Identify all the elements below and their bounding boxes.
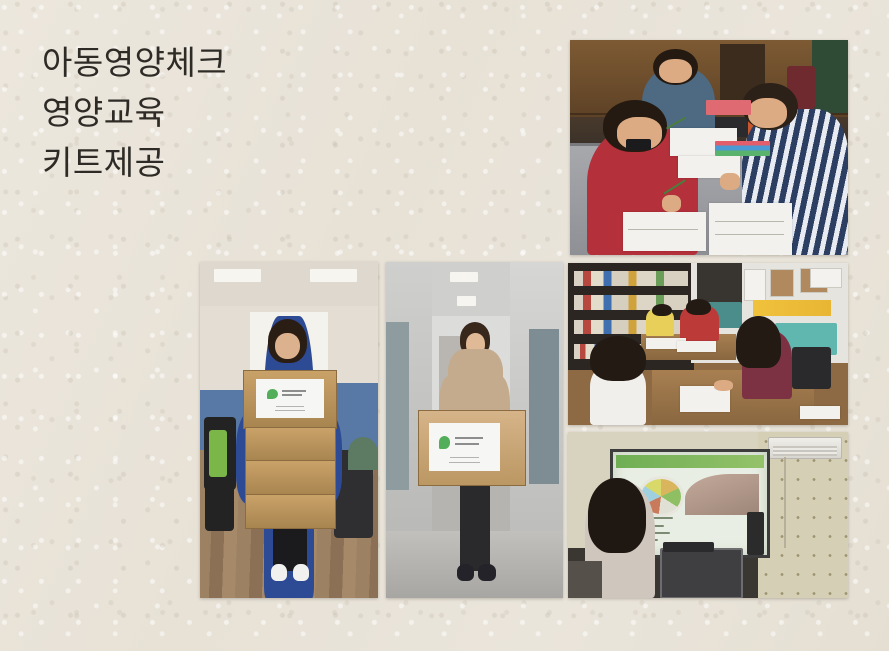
photo-kit-boxes-office (200, 262, 378, 598)
worksheet-paper-left (623, 212, 706, 251)
ceiling-light-left (214, 269, 260, 282)
speaker (747, 512, 764, 555)
office-chair-base (205, 484, 233, 531)
kit-box-2 (245, 427, 336, 463)
child-maroon-shirt-hair (736, 316, 781, 368)
photo-nutrition-lecture-projector-content (568, 432, 848, 598)
logo-text-line-2 (282, 394, 303, 396)
label-subtext-line-2 (449, 462, 480, 463)
shoe-left (457, 564, 475, 581)
food-fan-diagram (685, 474, 759, 515)
corridor-ceiling-light-1 (450, 272, 478, 282)
air-conditioner-vent (773, 446, 837, 456)
kit-box-label (429, 423, 499, 472)
desk-corner (568, 561, 602, 598)
logo-text-line-2 (455, 443, 479, 445)
kit-box-label (256, 379, 324, 419)
photo-kids-nutrition-check-content (570, 40, 848, 255)
logo-text-line-1 (455, 437, 483, 439)
hand-writing-right (720, 173, 739, 190)
shoe-left (271, 564, 287, 581)
projector-device (663, 542, 713, 552)
power-cable (784, 457, 786, 548)
book-row-1 (574, 271, 689, 286)
worksheet-line-2 (715, 221, 785, 222)
office-chair-black (792, 347, 831, 389)
book-stack (715, 141, 771, 156)
photo-kit-box-corridor (386, 262, 563, 598)
logo-text-line-1 (282, 390, 307, 392)
eyeglasses (626, 139, 651, 150)
shoe-right (293, 564, 309, 581)
podium-equipment (660, 548, 742, 598)
kit-box-top (243, 370, 338, 429)
kit-box-3 (245, 460, 336, 496)
worksheet-line-1 (628, 229, 698, 230)
child-white-shirt-hair (590, 336, 646, 381)
page-title: 아동영양체크 영양교육 키트제공 (42, 38, 462, 188)
pink-notebook (706, 100, 750, 115)
kit-box (418, 410, 526, 486)
instructor-hair (588, 478, 647, 553)
label-subtext-line-1 (450, 457, 478, 458)
label-subtext-line-2 (275, 410, 305, 411)
worksheet-paper-corner (800, 406, 839, 419)
slide-header-bar (616, 455, 764, 468)
ceiling-light-right (310, 269, 356, 282)
air-conditioner (768, 437, 843, 459)
wall-hanging-1 (770, 269, 794, 297)
corridor-ceiling-light-2 (457, 296, 476, 306)
photo-kit-box-corridor-content (386, 262, 563, 598)
label-subtext-line-1 (276, 406, 303, 407)
kit-box-4 (245, 494, 336, 530)
child-red-shirt-head (686, 299, 711, 315)
staff-face (275, 333, 300, 360)
photo-kids-nutrition-check (570, 40, 848, 255)
child-blue-shirt-face (659, 59, 692, 83)
yellow-wall-banner (753, 300, 831, 316)
worksheet-paper-right (709, 203, 792, 255)
potted-plant (348, 437, 378, 471)
corridor-door-left (386, 322, 409, 490)
worksheet-paper-back-2 (677, 341, 716, 352)
hand-writing-left (662, 195, 681, 212)
photo-kit-boxes-office-content (200, 262, 378, 598)
office-chair-green-back (209, 430, 227, 477)
wall-sign (810, 268, 843, 288)
child-yellow-shirt-head (652, 304, 672, 317)
worksheet-line-3 (715, 234, 785, 235)
photo-library-study-room-content (568, 263, 848, 425)
child-striped-shirt-face (748, 98, 787, 128)
photo-nutrition-lecture-projector (568, 432, 848, 598)
leaf-cloud-logo-icon (267, 389, 278, 399)
shoe-right (478, 564, 496, 581)
corridor-door-right (529, 329, 559, 484)
photo-library-study-room (568, 263, 848, 425)
presentation-slide: 아동영양체크 영양교육 키트제공 (0, 0, 889, 651)
wall-poster-1 (744, 269, 766, 300)
green-panel (812, 40, 848, 113)
hand-writing (714, 380, 734, 391)
leaf-cloud-logo-icon (439, 436, 451, 449)
